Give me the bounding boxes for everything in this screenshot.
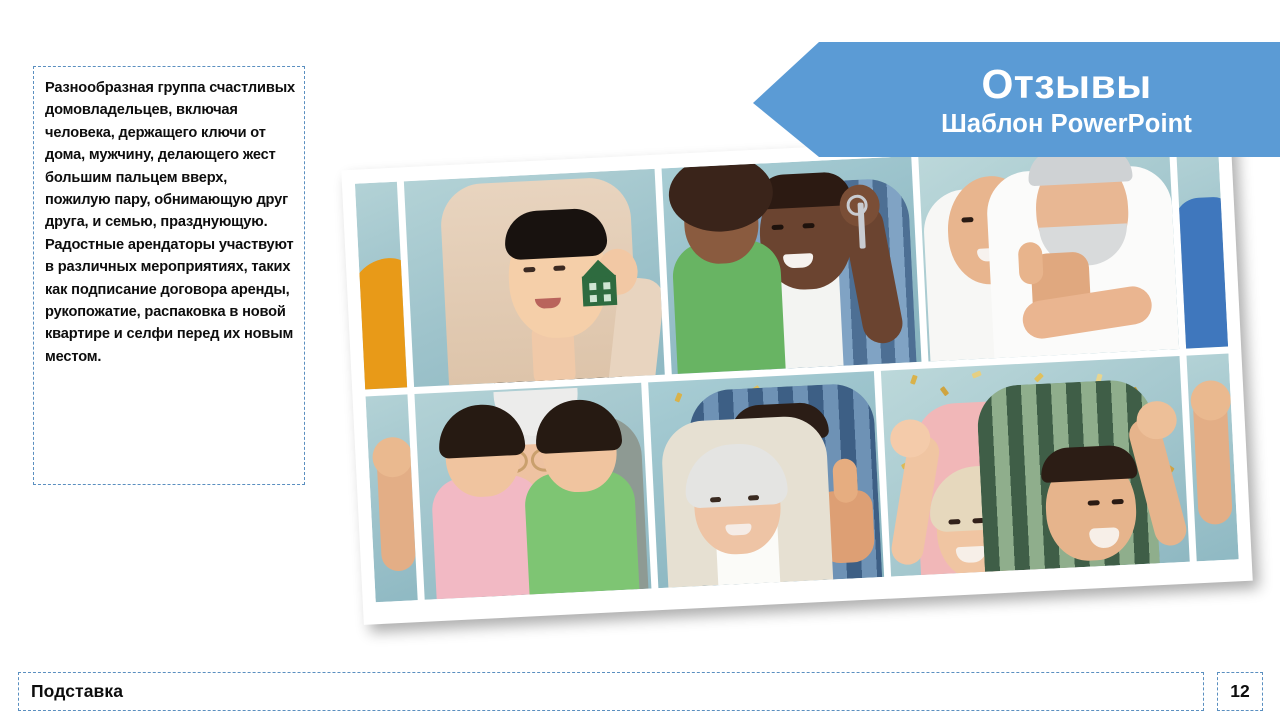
collage-cell-black-father-with-child-holding-keys	[661, 156, 922, 374]
photo-collage[interactable]	[341, 126, 1253, 625]
collage-cell-orange-sweater-edge	[355, 182, 407, 390]
collage-row	[366, 354, 1239, 603]
page-title: Отзывы	[982, 61, 1152, 107]
description-paragraph-1: Разнообразная группа счастливых домовлад…	[45, 77, 295, 234]
title-banner: Отзывы Шаблон PowerPoint	[753, 42, 1280, 157]
description-textbox[interactable]: Разнообразная группа счастливых домовлад…	[33, 66, 305, 485]
collage-cell-blue-shirt-edge	[1176, 141, 1228, 349]
collage-cell-raised-arm-edge-right	[1186, 354, 1238, 562]
collage-cell-raised-arm-edge	[366, 394, 418, 602]
description-paragraph-2: Радостные арендаторы участвуют в различн…	[45, 234, 295, 368]
collage-cell-couple-celebrating-with-confetti	[881, 356, 1190, 577]
page-number: 12	[1230, 681, 1249, 702]
collage-cell-asian-woman-holding-house-keychain	[404, 169, 665, 387]
collage-cell-grandfather-with-two-children-cheering	[414, 383, 650, 600]
collage-grid	[355, 141, 1239, 602]
page-number-placeholder[interactable]: 12	[1217, 672, 1263, 711]
collage-row	[355, 141, 1228, 390]
title-banner-content: Отзывы Шаблон PowerPoint	[853, 42, 1280, 157]
collage-cell-elderly-woman-and-man-thumbs-up	[648, 371, 884, 588]
footer-placeholder[interactable]: Подставка	[18, 672, 1204, 711]
page-subtitle: Шаблон PowerPoint	[941, 109, 1192, 139]
collage-cell-couple-thumbs-up	[919, 143, 1180, 361]
slide-canvas: Разнообразная группа счастливых домовлад…	[0, 0, 1280, 720]
footer-label: Подставка	[31, 681, 123, 702]
